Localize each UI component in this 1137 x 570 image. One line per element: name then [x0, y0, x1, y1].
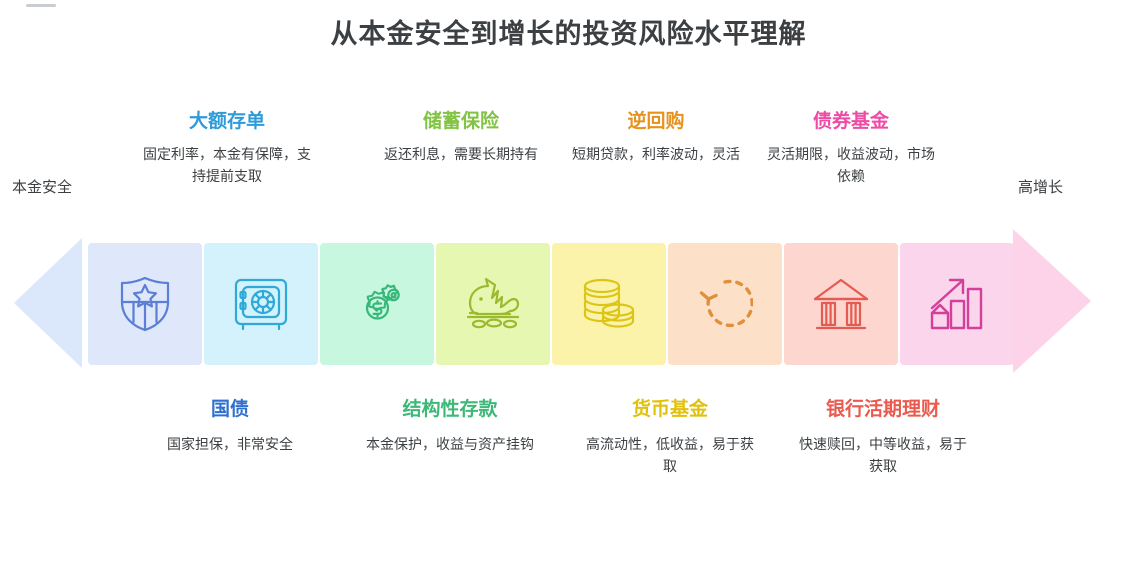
broken-piggy-bank-icon: [462, 275, 524, 333]
product-name: 国债: [140, 400, 320, 421]
label-group-top_labels-3: 债券基金灵活期限，收益波动，市场依赖: [761, 112, 941, 188]
tile-gears-dollar[interactable]: [320, 243, 434, 365]
axis-right-label: 高增长: [1018, 176, 1063, 197]
label-group-bottom_labels-3: 银行活期理财快速赎回，中等收益，易于获取: [793, 400, 973, 478]
label-group-top_labels-1: 储蓄保险返还利息，需要长期持有: [371, 112, 551, 167]
product-description: 国家担保，非常安全: [140, 435, 320, 457]
page-title: 从本金安全到增长的投资风险水平理解: [0, 12, 1137, 51]
bank-building-icon: [811, 277, 871, 331]
tile-broken-piggy-bank[interactable]: [436, 243, 550, 365]
product-description: 固定利率，本金有保障，支持提前支取: [137, 145, 317, 188]
tile-shield-star[interactable]: [88, 243, 202, 365]
tile-coin-stack[interactable]: [552, 243, 666, 365]
right-arrow-icon: [1013, 229, 1091, 373]
product-description: 灵活期限，收益波动，市场依赖: [761, 145, 941, 188]
label-group-bottom_labels-0: 国债国家担保，非常安全: [140, 400, 320, 457]
safe-vault-icon: [232, 275, 290, 333]
shield-star-icon: [117, 275, 173, 333]
axis-left-label: 本金安全: [12, 176, 72, 197]
product-name: 结构性存款: [360, 400, 540, 421]
label-group-bottom_labels-2: 货币基金高流动性，低收益，易于获取: [580, 400, 760, 478]
product-description: 本金保护，收益与资产挂钩: [360, 435, 540, 457]
coin-stack-icon: [579, 275, 639, 333]
product-description: 快速赎回，中等收益，易于获取: [793, 435, 973, 478]
tile-safe-vault[interactable]: [204, 243, 318, 365]
product-name: 货币基金: [580, 400, 760, 421]
refresh-arrow-icon: [697, 276, 753, 332]
label-group-top_labels-0: 大额存单固定利率，本金有保障，支持提前支取: [137, 112, 317, 188]
product-description: 返还利息，需要长期持有: [371, 145, 551, 167]
top-left-marker: [26, 4, 56, 7]
product-description: 高流动性，低收益，易于获取: [580, 435, 760, 478]
label-group-top_labels-2: 逆回购短期贷款，利率波动，灵活: [566, 112, 746, 167]
tile-bank-building[interactable]: [784, 243, 898, 365]
risk-spectrum-strip: [88, 243, 1014, 365]
tile-bar-chart-growth[interactable]: [900, 243, 1014, 365]
label-group-bottom_labels-1: 结构性存款本金保护，收益与资产挂钩: [360, 400, 540, 457]
product-name: 大额存单: [137, 112, 317, 133]
product-name: 债券基金: [761, 112, 941, 133]
gears-dollar-icon: [348, 275, 406, 333]
product-name: 逆回购: [566, 112, 746, 133]
tile-refresh-arrow[interactable]: [668, 243, 782, 365]
product-name: 银行活期理财: [793, 400, 973, 421]
product-name: 储蓄保险: [371, 112, 551, 133]
left-arrow-icon: [14, 238, 82, 368]
product-description: 短期贷款，利率波动，灵活: [566, 145, 746, 167]
bar-chart-growth-icon: [928, 275, 986, 333]
